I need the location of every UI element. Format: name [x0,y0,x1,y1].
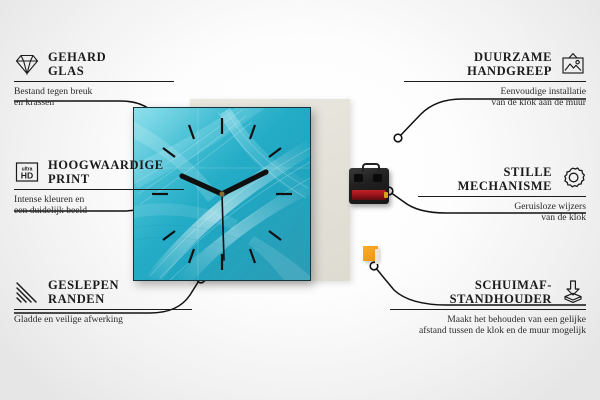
feature-header: DUURZAME HANDGREEP [404,50,586,78]
picture-frame-icon [560,51,586,77]
feature-divider [14,81,174,82]
feature-title: GEHARD GLAS [48,50,106,78]
feature-divider [390,309,586,310]
feature-duurzame-handgreep: DUURZAME HANDGREEP Eenvoudige installati… [404,50,586,109]
feature-title: STILLE MECHANISME [458,165,552,193]
feature-header: SCHUIMAF- STANDHOUDER [390,278,586,306]
spacer-down-arrow-icon [560,279,586,305]
feature-divider [14,309,192,310]
clock-center-cap [219,191,224,196]
feature-divider [404,81,586,82]
feature-header: ultra HD HOOGWAARDIGE PRINT [14,158,184,186]
mechanism-hanger [362,163,380,172]
feature-description: Geruisloze wijzers van de klok [418,201,586,224]
feature-description: Maakt het behouden van een gelijke afsta… [390,314,586,337]
feature-description: Intense kleuren en een duidelijk beeld [14,194,184,217]
feature-title: GESLEPEN RANDEN [48,278,119,306]
wire-dot-duurzame-handgreep [394,134,402,142]
feature-header: GESLEPEN RANDEN [14,278,192,306]
mechanism-slot-left [354,174,363,182]
feature-header: GEHARD GLAS [14,50,174,78]
clock-mechanism [349,168,389,204]
gear-icon [560,166,586,192]
foam-spacer [363,246,378,261]
bevelled-edges-icon [14,279,40,305]
feature-description: Bestand tegen breuk en krassen [14,86,174,109]
feature-schuimafstandhouder: SCHUIMAF- STANDHOUDER Maakt het behouden… [390,278,586,337]
feature-title: DUURZAME HANDGREEP [467,50,552,78]
ultra-hd-icon: ultra HD [14,159,40,185]
infographic-canvas: GEHARD GLAS Bestand tegen breuk en krass… [0,0,600,400]
feature-hoogwaardige-print: ultra HD HOOGWAARDIGE PRINT Intense kleu… [14,158,184,217]
feature-divider [14,189,184,190]
feature-title: SCHUIMAF- STANDHOUDER [450,278,552,306]
feature-stille-mechanisme: STILLE MECHANISME Geruisloze wijzers van… [418,165,586,224]
feature-header: STILLE MECHANISME [418,165,586,193]
feature-divider [418,196,586,197]
feature-gehard-glas: GEHARD GLAS Bestand tegen breuk en krass… [14,50,174,109]
feature-geslepen-randen: GESLEPEN RANDEN Gladde en veilige afwerk… [14,278,192,325]
mechanism-slot-right [373,174,382,182]
feature-description: Eenvoudige installatie van de klok aan d… [404,86,586,109]
feature-description: Gladde en veilige afwerking [14,314,192,325]
feature-title: HOOGWAARDIGE PRINT [48,158,164,186]
diamond-icon [14,51,40,77]
svg-text:HD: HD [21,171,33,181]
battery [352,190,386,200]
